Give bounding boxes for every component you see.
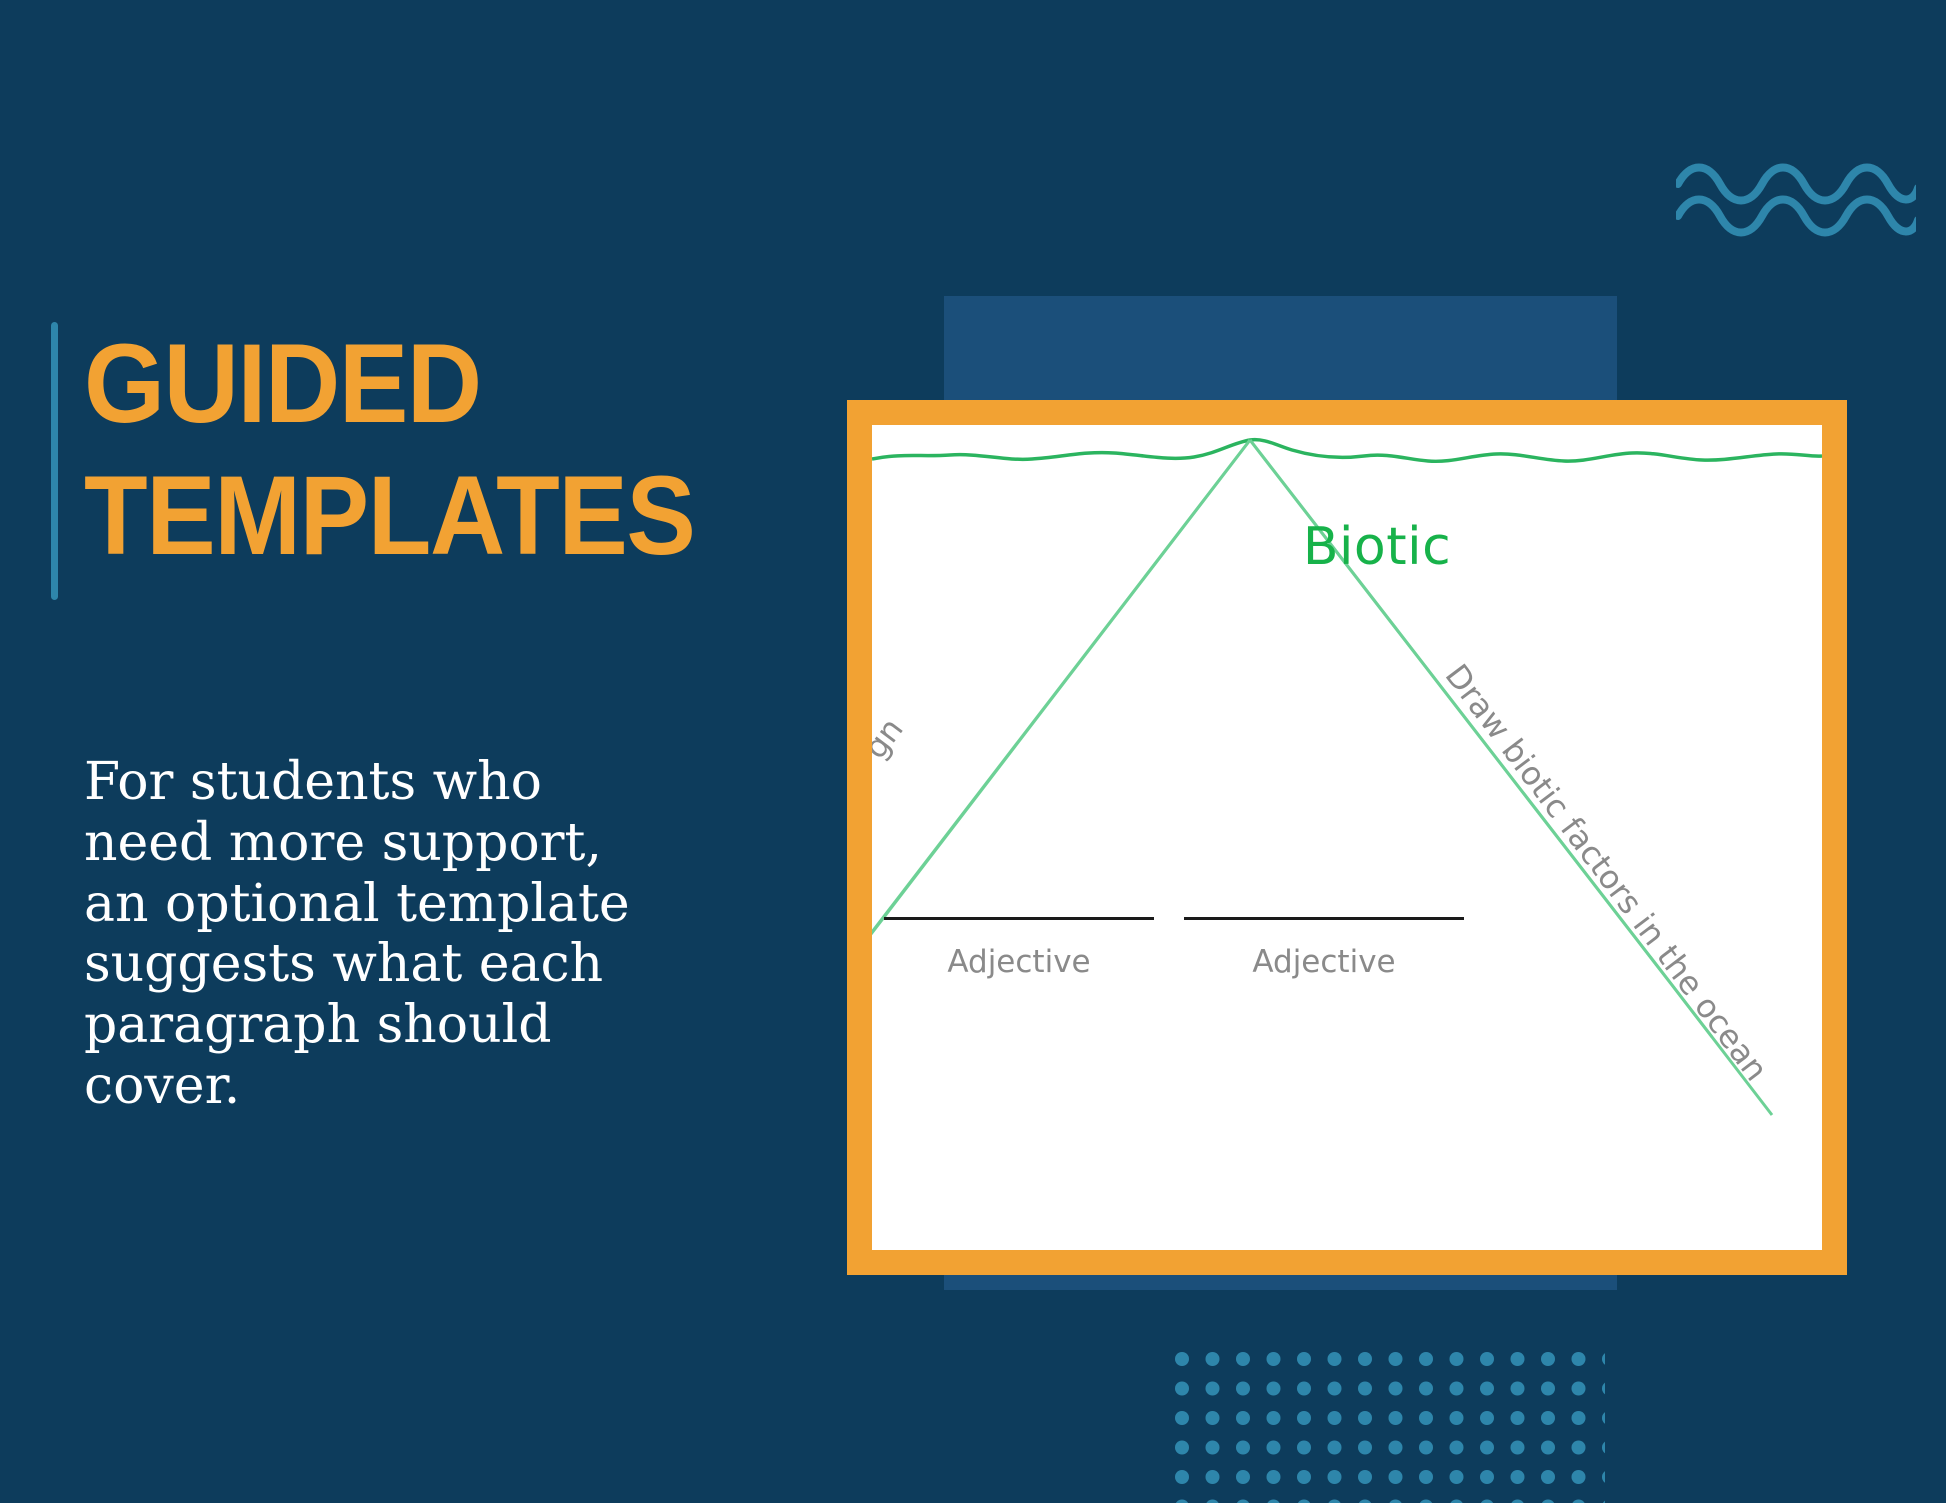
accent-bar [51, 322, 58, 600]
biotic-label: Biotic [902, 517, 1822, 577]
answer-blank-caption: Adjective [1184, 944, 1464, 980]
wave-lines-icon [1676, 158, 1916, 248]
page-title: GUIDED TEMPLATES [84, 318, 679, 582]
answer-blank-caption: Adjective [884, 944, 1154, 980]
page-title-line-2: TEMPLATES [84, 450, 679, 582]
body-paragraph: For students who need more support, an o… [84, 752, 644, 1117]
page-title-line-1: GUIDED [84, 318, 679, 450]
dot-grid-icon [1175, 1352, 1605, 1503]
answer-blank-1: Adjective [884, 917, 1154, 980]
answer-blank-2: Adjective [1184, 917, 1464, 980]
answer-blank-rule[interactable] [884, 917, 1154, 920]
worksheet-canvas: Biotic gn Draw biotic factors in the oce… [872, 425, 1822, 1250]
worksheet-image-card: Biotic gn Draw biotic factors in the oce… [847, 400, 1847, 1275]
answer-blank-rule[interactable] [1184, 917, 1464, 920]
slide-canvas: GUIDED TEMPLATES For students who need m… [0, 0, 1946, 1503]
